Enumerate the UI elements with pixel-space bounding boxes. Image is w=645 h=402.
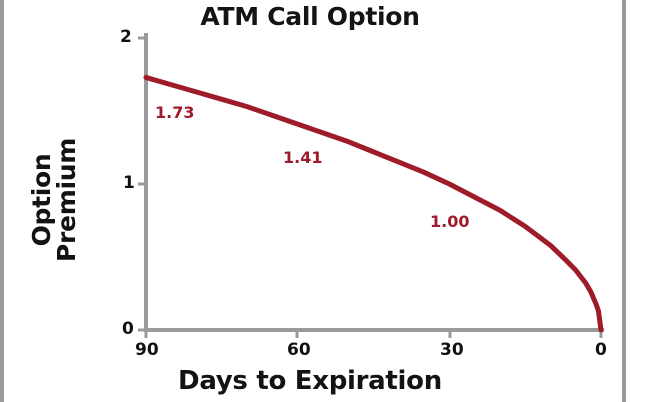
y-axis-tick-label-0: 0 bbox=[122, 319, 134, 339]
y-axis-tick-label-2: 2 bbox=[120, 27, 132, 47]
x-axis-title: Days to Expiration bbox=[0, 366, 620, 396]
option-premium-curve bbox=[146, 77, 601, 330]
y-axis-title-line-1: Option bbox=[29, 154, 55, 247]
y-axis-title-line-2: Premium bbox=[54, 138, 80, 262]
frame-outer-margin bbox=[626, 0, 645, 402]
x-axis-tick-label-30: 30 bbox=[440, 340, 464, 360]
x-axis-tick-label-60: 60 bbox=[287, 340, 311, 360]
plot-area bbox=[0, 0, 645, 402]
y-axis-tick-label-1: 1 bbox=[123, 173, 135, 193]
data-annotation-30d: 1.00 bbox=[430, 212, 469, 231]
x-axis-tick-label-0: 0 bbox=[595, 340, 607, 360]
chart-canvas: ATM Call Option 2 1 0 90 60 30 0 1.73 1.… bbox=[0, 0, 645, 402]
data-annotation-60d: 1.41 bbox=[283, 148, 322, 167]
data-annotation-90d: 1.73 bbox=[155, 103, 194, 122]
x-axis-tick-label-90: 90 bbox=[135, 340, 159, 360]
y-axis-title: Option Premium bbox=[24, 100, 84, 300]
